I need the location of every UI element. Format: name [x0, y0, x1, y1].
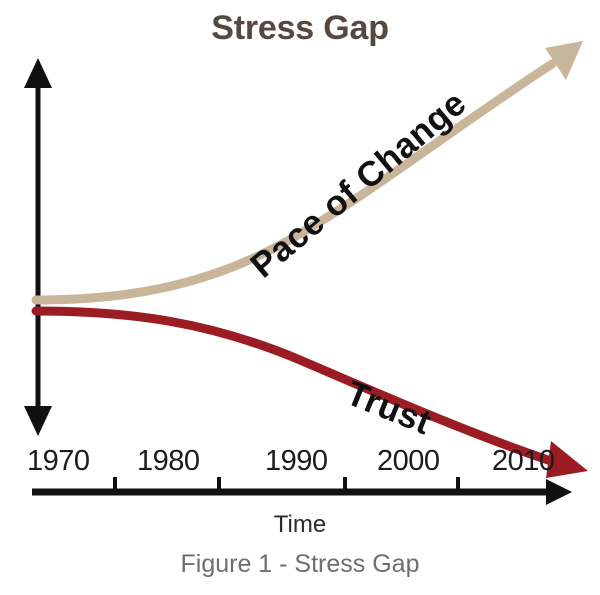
y-axis [24, 58, 52, 436]
x-tick-label-1970: 1970 [27, 446, 90, 476]
figure-stress-gap: Stress Gap [0, 0, 600, 595]
x-tick-label-2000: 2000 [377, 446, 440, 476]
x-axis-title: Time [200, 510, 400, 540]
y-axis-arrow-down-icon [24, 406, 52, 436]
x-axis [32, 477, 572, 505]
x-tick-label-1990: 1990 [265, 446, 328, 476]
x-tick-label-1980: 1980 [137, 446, 200, 476]
chart-canvas [0, 0, 600, 595]
series-pace-of-change [36, 41, 583, 300]
x-axis-arrow-right-icon [546, 479, 572, 505]
x-tick-label-2010: 2010 [492, 446, 555, 476]
y-axis-arrow-up-icon [24, 58, 52, 88]
trust-line [36, 311, 548, 460]
figure-caption: Figure 1 - Stress Gap [0, 548, 600, 580]
